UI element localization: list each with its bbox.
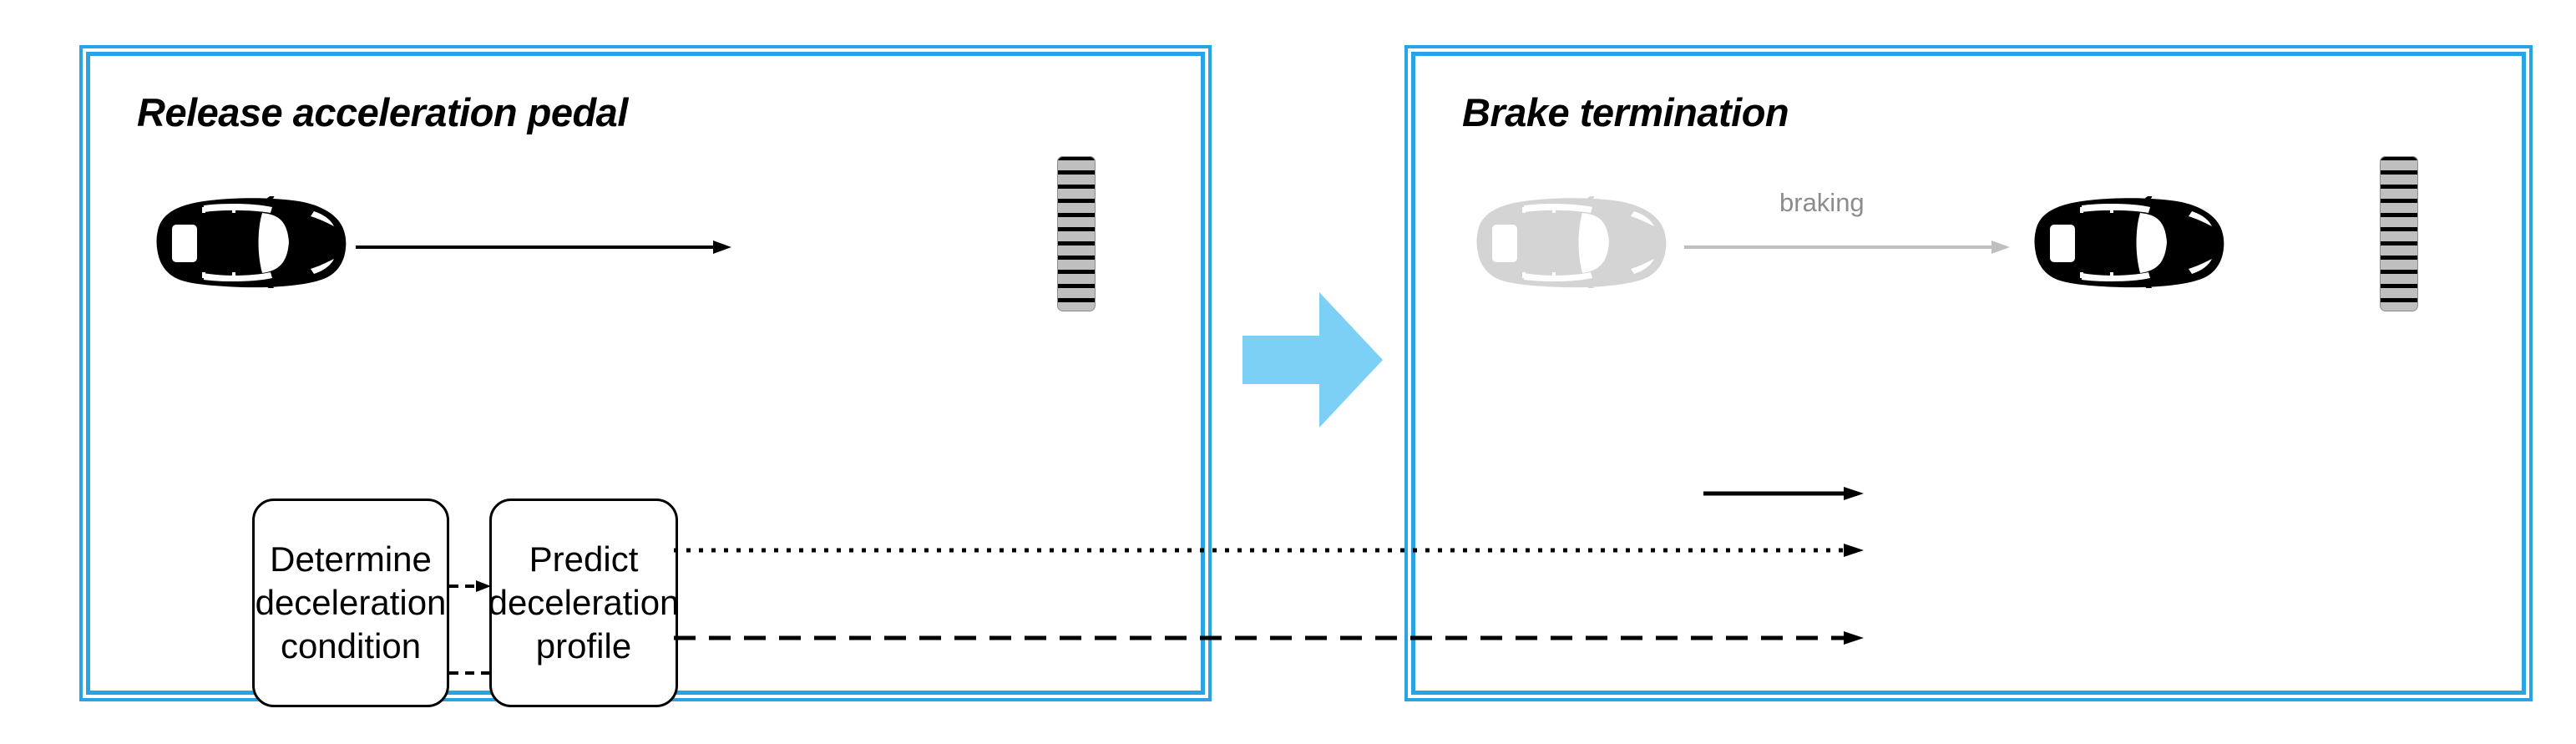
box-line: Determine bbox=[256, 538, 447, 581]
panel-brake-termination: Brake termination bbox=[1411, 52, 2526, 695]
car-icon-ghost bbox=[1475, 196, 1669, 288]
process-box-determine-deceleration-condition[interactable]: Determine deceleration condition bbox=[252, 499, 449, 707]
barrier-wall-left bbox=[1057, 156, 1096, 311]
connector-predict-to-update-dotted bbox=[674, 544, 1864, 557]
panel-title-left: Release acceleration pedal bbox=[137, 89, 628, 135]
process-box-determine-label: Determine deceleration condition bbox=[247, 538, 455, 668]
box-line: deceleration bbox=[256, 581, 447, 625]
diagram-canvas: Release acceleration pedal bbox=[0, 0, 2576, 744]
car-icon-black-right bbox=[2033, 196, 2227, 288]
panel-release-acceleration-pedal: Release acceleration pedal bbox=[86, 52, 1205, 695]
connector-determine-to-predict-upper bbox=[449, 578, 491, 595]
stage-transition-arrow bbox=[1242, 292, 1383, 428]
box-line: condition bbox=[256, 625, 447, 668]
barrier-wall-right bbox=[2380, 156, 2418, 311]
box-line: profile bbox=[488, 625, 680, 668]
panel-title-right: Brake termination bbox=[1462, 89, 1789, 135]
motion-arrow-left bbox=[356, 238, 731, 256]
box-line: Predict bbox=[488, 538, 680, 581]
connector-predict-to-update-dashed bbox=[674, 631, 1864, 645]
motion-arrow-braking bbox=[1684, 238, 2010, 256]
box-line: deceleration bbox=[488, 581, 680, 625]
braking-label: braking bbox=[1779, 188, 1865, 218]
connector-determine-to-predict-lower bbox=[449, 670, 491, 676]
process-box-predict-label: Predict deceleration profile bbox=[480, 538, 688, 668]
process-box-predict-deceleration-profile[interactable]: Predict deceleration profile bbox=[489, 499, 678, 707]
connector-braking-to-update-solid bbox=[1703, 487, 1864, 500]
car-icon-black bbox=[155, 196, 349, 288]
